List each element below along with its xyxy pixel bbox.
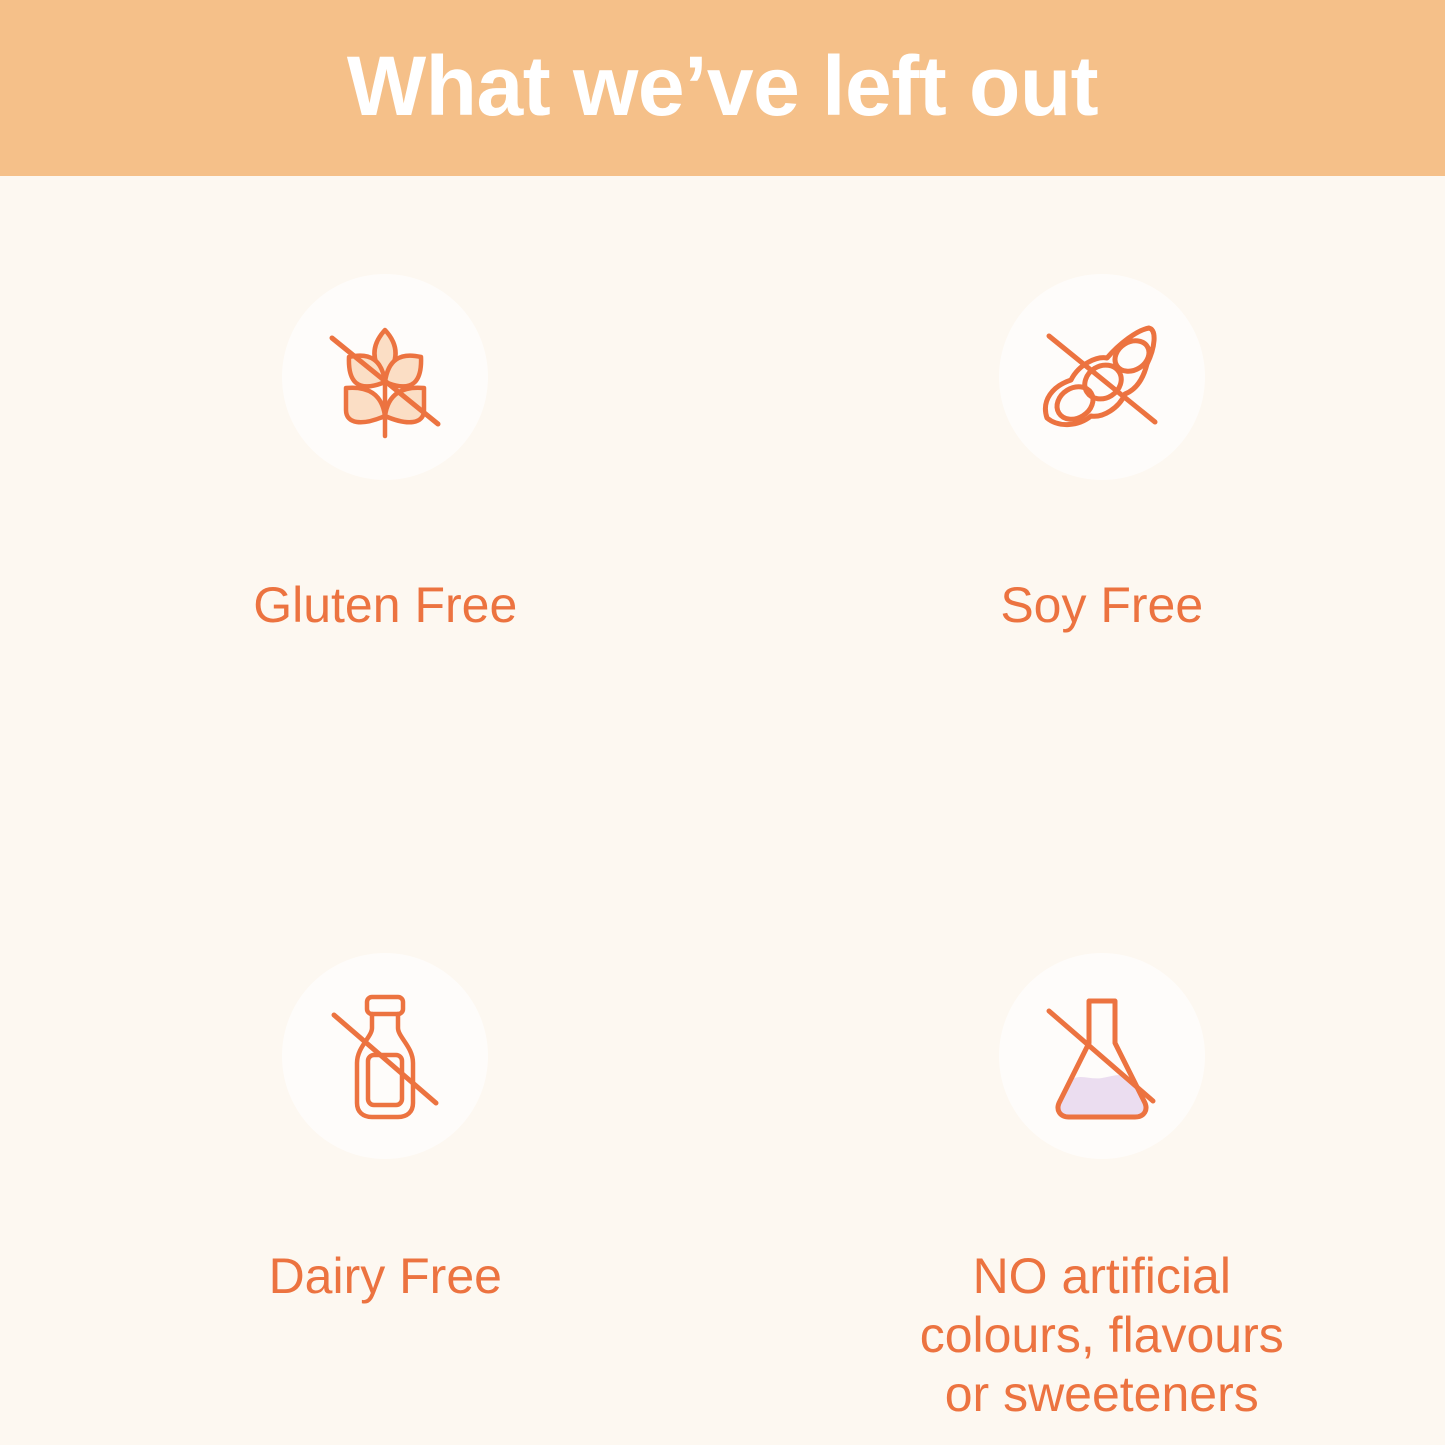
page-title: What we’ve left out bbox=[347, 44, 1098, 128]
feature-label-gluten-free: Gluten Free bbox=[253, 576, 517, 635]
icon-circle-gluten-free bbox=[282, 274, 488, 480]
feature-label-no-artificial: NO artificial colours, flavours or sweet… bbox=[872, 1247, 1332, 1424]
feature-label-line-2: colours, flavours bbox=[872, 1306, 1332, 1365]
soybean-slashed-icon bbox=[1027, 302, 1177, 452]
feature-label-dairy-free: Dairy Free bbox=[269, 1247, 502, 1306]
icon-circle-dairy-free bbox=[282, 953, 488, 1159]
milk-bottle-slashed-icon bbox=[310, 981, 460, 1131]
feature-item-dairy-free: Dairy Free bbox=[0, 811, 723, 1445]
feature-label-line-3: or sweeteners bbox=[872, 1365, 1332, 1424]
feature-item-gluten-free: Gluten Free bbox=[0, 176, 723, 811]
feature-label-line-1: NO artificial bbox=[872, 1247, 1332, 1306]
feature-label-soy-free: Soy Free bbox=[1000, 576, 1203, 635]
icon-circle-soy-free bbox=[999, 274, 1205, 480]
flask-slashed-icon bbox=[1027, 981, 1177, 1131]
feature-item-soy-free: Soy Free bbox=[723, 176, 1445, 811]
wheat-slashed-icon bbox=[310, 302, 460, 452]
feature-item-no-artificial: NO artificial colours, flavours or sweet… bbox=[723, 811, 1445, 1445]
header-banner: What we’ve left out bbox=[0, 0, 1445, 176]
icon-circle-no-artificial bbox=[999, 953, 1205, 1159]
features-grid: Gluten Free Soy Free bbox=[0, 176, 1445, 1445]
